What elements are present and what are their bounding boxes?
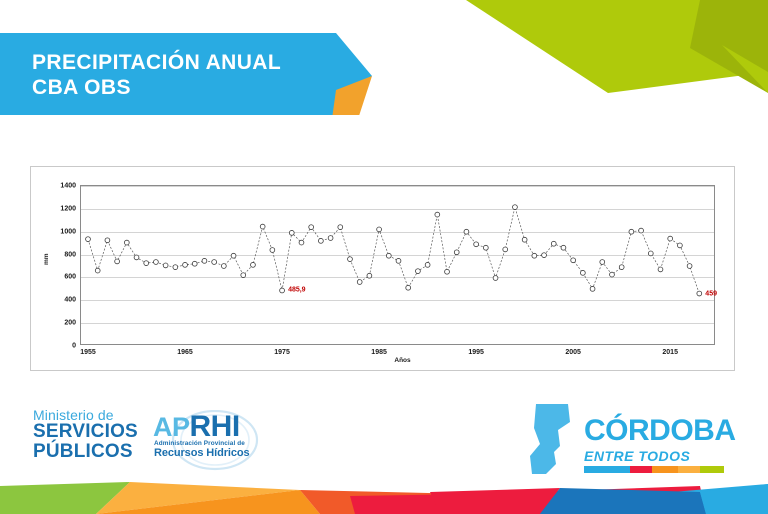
- data-point: [124, 240, 129, 245]
- bottom-color-band: [0, 476, 768, 514]
- aprhi-ap: AP: [153, 412, 190, 442]
- data-point: [144, 261, 149, 266]
- band-blue-4: [700, 484, 768, 514]
- x-tick-label: 1985: [371, 349, 387, 356]
- data-point: [600, 260, 605, 265]
- y-tick-label: 1400: [60, 183, 76, 190]
- aprhi-sub2: Recursos Hídricos: [154, 447, 250, 459]
- ministerio-line3: PÚBLICOS: [33, 442, 138, 461]
- data-point: [406, 285, 411, 290]
- cordoba-color-bar: [584, 466, 724, 473]
- y-tick-label: 600: [64, 274, 76, 281]
- data-point: [251, 262, 256, 267]
- data-point: [221, 264, 226, 269]
- data-point: [590, 286, 595, 291]
- data-point: [154, 260, 159, 265]
- data-point: [105, 238, 110, 243]
- data-point: [396, 258, 401, 263]
- x-tick-label: 2005: [565, 349, 581, 356]
- x-tick-label: 1965: [177, 349, 193, 356]
- data-point: [338, 225, 343, 230]
- data-point: [464, 229, 469, 234]
- data-point: [231, 253, 236, 258]
- x-tick-label: 1995: [468, 349, 484, 356]
- data-point: [348, 257, 353, 262]
- annotation-label: 459: [705, 290, 717, 297]
- x-tick-label: 1975: [274, 349, 290, 356]
- aprhi-sub1: Administración Provincial de: [154, 440, 250, 447]
- data-point: [377, 227, 382, 232]
- chart-container: mm 0200400600800100012001400 19551965197…: [30, 166, 735, 371]
- data-point: [503, 247, 508, 252]
- y-tick-label: 800: [64, 251, 76, 258]
- slide-page: PRECIPITACIÓN ANUAL CBA OBS mm 020040060…: [0, 0, 768, 514]
- data-point: [192, 261, 197, 266]
- data-point: [115, 259, 120, 264]
- aprhi-rhi: RHI: [190, 410, 240, 443]
- data-point: [280, 288, 285, 293]
- y-tick-label: 1000: [60, 228, 76, 235]
- data-point: [386, 253, 391, 258]
- data-point: [629, 229, 634, 234]
- data-point: [532, 253, 537, 258]
- data-point: [173, 265, 178, 270]
- data-point: [183, 262, 188, 267]
- band-red-3: [430, 488, 560, 514]
- data-point: [474, 242, 479, 247]
- data-point: [241, 273, 246, 278]
- data-point: [445, 269, 450, 274]
- y-tick-label: 400: [64, 297, 76, 304]
- data-point: [357, 280, 362, 285]
- data-point: [610, 272, 615, 277]
- data-point: [299, 240, 304, 245]
- data-point: [522, 237, 527, 242]
- data-point: [648, 251, 653, 256]
- data-point: [619, 265, 624, 270]
- data-point: [580, 270, 585, 275]
- data-point: [658, 267, 663, 272]
- data-point: [668, 236, 673, 241]
- data-point: [687, 264, 692, 269]
- data-point: [542, 253, 547, 258]
- cordoba-province-icon: [524, 400, 582, 478]
- x-tick-label: 1955: [80, 349, 96, 356]
- data-point: [454, 250, 459, 255]
- data-point: [289, 230, 294, 235]
- y-tick-label: 1200: [60, 205, 76, 212]
- data-point: [318, 238, 323, 243]
- x-tick-label: 2015: [662, 349, 678, 356]
- data-point: [571, 258, 576, 263]
- data-point: [328, 236, 333, 241]
- precipitation-series: [81, 186, 716, 346]
- page-title: PRECIPITACIÓN ANUAL CBA OBS: [32, 50, 281, 100]
- data-point: [212, 260, 217, 265]
- y-tick-label: 0: [72, 343, 76, 350]
- data-point: [260, 224, 265, 229]
- data-point: [95, 268, 100, 273]
- data-point: [367, 273, 372, 278]
- y-tick-label: 200: [64, 320, 76, 327]
- band-blue-3: [540, 488, 706, 514]
- data-point: [309, 225, 314, 230]
- data-point: [697, 291, 702, 296]
- x-axis-title: Años: [31, 357, 734, 364]
- plot-area: 0200400600800100012001400 19551965197519…: [80, 185, 715, 345]
- ministerio-line2: SERVICIOS: [33, 422, 138, 441]
- series-line: [88, 207, 699, 293]
- y-axis-title: mm: [43, 253, 50, 265]
- data-point: [639, 228, 644, 233]
- data-point: [551, 241, 556, 246]
- data-point: [493, 276, 498, 281]
- data-point: [416, 269, 421, 274]
- cordoba-title: CÓRDOBA: [584, 414, 736, 448]
- logo-ministerio-servicios-publicos: Ministerio de SERVICIOS PÚBLICOS: [33, 408, 138, 461]
- data-point: [425, 262, 430, 267]
- data-point: [86, 237, 91, 242]
- data-point: [561, 245, 566, 250]
- data-point: [435, 212, 440, 217]
- annotation-label: 485,9: [288, 287, 306, 294]
- cordoba-subtitle: ENTRE TODOS: [584, 448, 736, 464]
- logo-aprhi: APRHI Administración Provincial de Recur…: [153, 410, 271, 472]
- data-point: [202, 258, 207, 263]
- ministerio-line1: Ministerio de: [33, 408, 138, 422]
- data-point: [677, 243, 682, 248]
- data-point: [513, 205, 518, 210]
- data-point: [483, 245, 488, 250]
- logo-cordoba-entre-todos: CÓRDOBA ENTRE TODOS: [524, 400, 724, 478]
- data-point: [270, 248, 275, 253]
- data-point: [163, 263, 168, 268]
- data-point: [134, 255, 139, 260]
